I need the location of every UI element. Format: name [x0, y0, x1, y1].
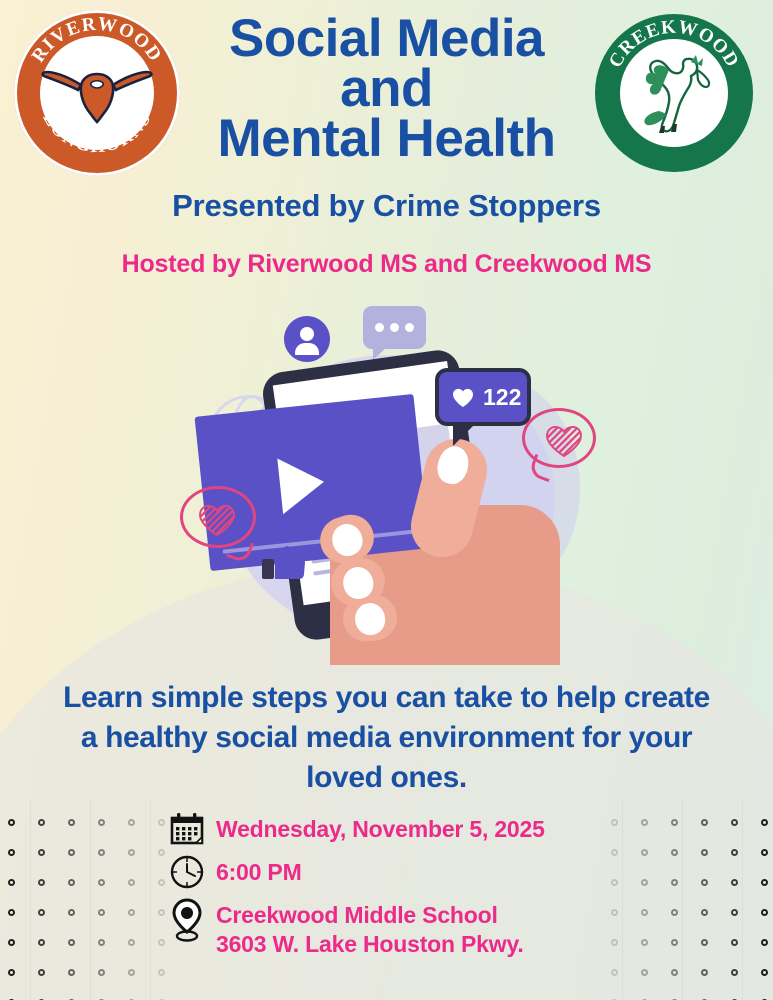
body-line-1: Learn simple steps you can take to help …: [30, 678, 743, 718]
detail-row-time: 6:00 PM: [170, 855, 640, 889]
decorative-dot: [671, 909, 678, 916]
chat-bubble-dots-icon: [363, 306, 426, 349]
decorative-dot: [701, 819, 708, 826]
detail-text-time: 6:00 PM: [216, 855, 302, 887]
decorative-dot: [98, 849, 105, 856]
chat-dot: [375, 323, 384, 332]
decorative-dot: [641, 879, 648, 886]
decorative-dot: [38, 849, 45, 856]
finger-nail: [328, 520, 366, 560]
decorative-dot: [68, 939, 75, 946]
decorative-dot: [158, 939, 165, 946]
event-time: 6:00 PM: [216, 858, 302, 887]
heart-speech-bubble-left: [180, 486, 256, 548]
decorative-dot: [68, 849, 75, 856]
decorative-dot: [641, 849, 648, 856]
decorative-dot: [761, 819, 768, 826]
decorative-dot: [731, 849, 738, 856]
title-line-3: Mental Health: [0, 114, 773, 164]
decorative-dot: [38, 939, 45, 946]
event-date: Wednesday, November 5, 2025: [216, 815, 545, 844]
decorative-dot: [731, 879, 738, 886]
finger-nail: [354, 602, 387, 637]
decorative-dot: [671, 879, 678, 886]
decorative-dot: [158, 849, 165, 856]
decorative-dot: [38, 879, 45, 886]
clock-icon: [170, 855, 216, 889]
decorative-dot: [128, 849, 135, 856]
title-line-1: Social Media: [0, 14, 773, 64]
decorative-dot: [38, 819, 45, 826]
body-line-3: loved ones.: [30, 758, 743, 798]
heart-speech-bubble-right: [522, 408, 596, 468]
decorative-dot: [761, 969, 768, 976]
decorative-dot: [731, 909, 738, 916]
thumbs-up-icon: [262, 545, 306, 581]
detail-text-date: Wednesday, November 5, 2025: [216, 812, 545, 844]
striped-heart-icon: [545, 425, 583, 458]
body-line-2: a healthy social media environment for y…: [30, 718, 743, 758]
decorative-dot: [68, 879, 75, 886]
decorative-dot: [68, 819, 75, 826]
decorative-dot: [761, 879, 768, 886]
decorative-dot: [128, 819, 135, 826]
decorative-dot: [8, 909, 15, 916]
decorative-dot: [641, 969, 648, 976]
calendar-icon: [170, 812, 216, 846]
decorative-dot: [68, 969, 75, 976]
decorative-dot: [731, 969, 738, 976]
decorative-dot: [731, 819, 738, 826]
decorative-dot: [701, 939, 708, 946]
decorative-dot: [671, 939, 678, 946]
thumb-nail: [434, 443, 472, 487]
decorative-dot-grid-left: [0, 805, 170, 1000]
detail-text-location: Creekwood Middle School 3603 W. Lake Hou…: [216, 898, 524, 959]
decorative-dot: [128, 879, 135, 886]
finger-nail: [340, 564, 376, 602]
decorative-dot: [158, 909, 165, 916]
decorative-dot: [701, 969, 708, 976]
striped-heart-icon: [198, 504, 236, 537]
decorative-dot: [701, 849, 708, 856]
decorative-dot: [38, 909, 45, 916]
decorative-dot: [98, 879, 105, 886]
decorative-dot: [8, 849, 15, 856]
decorative-dot: [761, 939, 768, 946]
decorative-dot: [68, 909, 75, 916]
decorative-dot: [671, 849, 678, 856]
chat-dot: [405, 323, 414, 332]
event-venue: Creekwood Middle School: [216, 901, 524, 930]
social-media-illustration: ♡ ◌ ➤ 122: [180, 290, 600, 635]
decorative-dot: [761, 849, 768, 856]
decorative-dot: [8, 879, 15, 886]
title-line-2: and: [0, 64, 773, 114]
decorative-dot: [128, 969, 135, 976]
decorative-dot: [8, 819, 15, 826]
decorative-dot: [98, 819, 105, 826]
play-button-icon: [277, 454, 327, 514]
decorative-dot: [128, 909, 135, 916]
decorative-dot: [158, 879, 165, 886]
likes-bubble-tail: [453, 424, 475, 446]
decorative-dot: [731, 939, 738, 946]
avatar-body: [295, 343, 319, 355]
page-title: Social Media and Mental Health: [0, 14, 773, 164]
avatar-head: [300, 327, 314, 341]
decorative-dot: [611, 969, 618, 976]
decorative-dot: [671, 969, 678, 976]
decorative-dot: [98, 909, 105, 916]
hosted-by-text: Hosted by Riverwood MS and Creekwood MS: [0, 250, 773, 279]
decorative-dot: [671, 819, 678, 826]
location-pin-icon: [170, 898, 216, 942]
decorative-dot: [701, 879, 708, 886]
event-address: 3603 W. Lake Houston Pkwy.: [216, 930, 524, 959]
detail-row-location: Creekwood Middle School 3603 W. Lake Hou…: [170, 898, 640, 959]
decorative-dot: [641, 819, 648, 826]
user-avatar-badge-icon: [284, 316, 330, 362]
likes-count: 122: [483, 384, 521, 411]
event-details: Wednesday, November 5, 2025: [170, 812, 640, 968]
decorative-dot: [38, 969, 45, 976]
decorative-dot: [8, 969, 15, 976]
presented-by-text: Presented by Crime Stoppers: [0, 188, 773, 224]
decorative-dot: [158, 969, 165, 976]
decorative-dot: [98, 969, 105, 976]
chat-dot: [390, 323, 399, 332]
decorative-dot: [8, 939, 15, 946]
detail-row-date: Wednesday, November 5, 2025: [170, 812, 640, 846]
decorative-dot: [158, 819, 165, 826]
flyer-poster: RIVERWOOD LONGHORNS CREEKWOOD: [0, 0, 773, 1000]
decorative-dot: [701, 909, 708, 916]
body-description: Learn simple steps you can take to help …: [30, 678, 743, 798]
decorative-dot: [641, 909, 648, 916]
decorative-dot: [761, 909, 768, 916]
heart-icon: [452, 388, 474, 408]
likes-bubble: 122: [435, 368, 531, 426]
decorative-dot: [641, 939, 648, 946]
decorative-dot: [98, 939, 105, 946]
decorative-dot: [128, 939, 135, 946]
